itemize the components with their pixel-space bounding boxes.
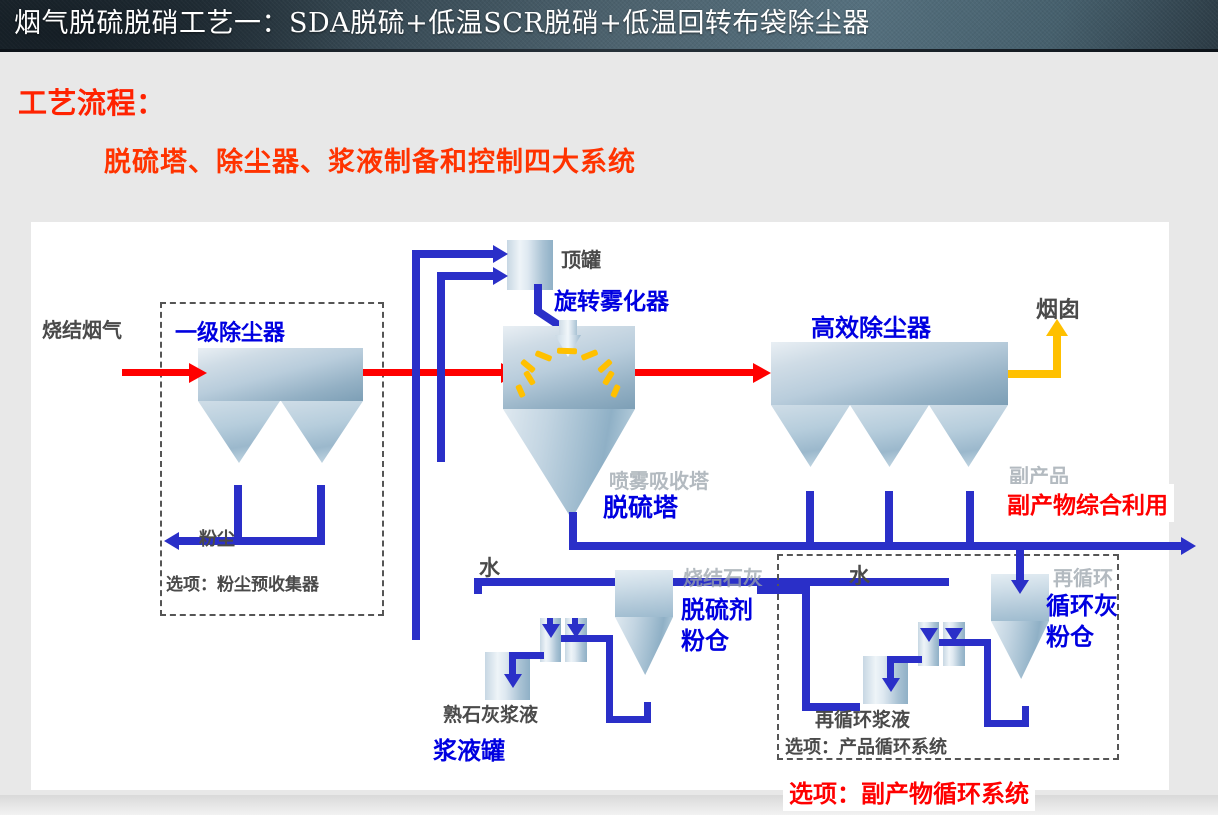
arrow-recycle-mixer-1-down [920, 628, 938, 642]
page-footer-strip [0, 795, 1218, 815]
he-hopper-2 [850, 405, 929, 467]
label-recycle-ash-silo-line2: 粉仓 [1046, 617, 1094, 652]
label-slurry-tank: 浆液罐 [433, 731, 505, 766]
label-option-byproduct-recycle-system: 选项：副产物循环系统 [783, 772, 1035, 811]
label-top-tank: 顶罐 [561, 244, 601, 273]
arrow-dust-left [164, 532, 179, 550]
pipe-he-hopper3-down [966, 491, 974, 546]
label-desulfurizer-silo-line2: 粉仓 [681, 621, 729, 656]
pipe-feed-a-horizontal [412, 250, 494, 258]
heading-process-flow: 工艺流程： [18, 80, 166, 122]
he-hopper-3 [929, 405, 1008, 467]
desulfurizer-silo-body [615, 570, 673, 618]
slide-title-bar: 烟气脱硫脱硝工艺一：SDA脱硫+低温SCR脱硝+低温回转布袋除尘器 [0, 0, 1218, 49]
arrow-recycle-slurry-down [882, 678, 900, 692]
he-dust-collector-body [771, 342, 1008, 406]
arrow-tower-bottom-right [1181, 537, 1196, 555]
label-sinter-flue-gas: 烧结烟气 [42, 314, 122, 343]
atomizer-nozzle [559, 320, 577, 336]
heading-four-systems: 脱硫塔、除尘器、浆液制备和控制四大系统 [104, 140, 636, 179]
label-water-right: 水 [849, 560, 870, 590]
pipe-mixer-1-stem [547, 618, 553, 632]
slide-title: 烟气脱硫脱硝工艺一：SDA脱硫+低温SCR脱硝+低温回转布袋除尘器 [14, 5, 870, 43]
pipe-recycle-left-top [757, 586, 810, 594]
red-gas-pipe-mid [363, 369, 503, 376]
label-dust: 粉尘 [199, 525, 235, 551]
pipe-feed-b-vertical [437, 272, 445, 462]
he-hopper-1 [771, 405, 850, 467]
arrow-slurry-down [504, 674, 522, 688]
pipe-feed-b-horizontal [437, 272, 494, 280]
label-option-dust-precollector: 选项：粉尘预收集器 [166, 570, 319, 595]
pipe-recycle-return-vertical [984, 639, 991, 727]
desulfurizer-silo-cone [615, 617, 673, 675]
pipe-recycle-mixer-to-tank-v [887, 656, 894, 680]
label-option-product-recycle-system: 选项：产品循环系统 [785, 733, 947, 759]
pipe-slurry-return-stub [644, 702, 651, 723]
pipe-chimney-vertical [1053, 334, 1061, 378]
process-flow-diagram: 烧结烟气 一级除尘器 粉尘 选项：粉尘预收集器 顶罐 旋转雾化器 [31, 222, 1169, 790]
label-recycled-slurry: 再循环浆液 [815, 705, 910, 732]
red-gas-pipe-tower-to-collector [635, 369, 755, 376]
pipe-hopper1-down [234, 485, 242, 545]
pipe-water-left-riser [474, 578, 482, 594]
arrow-chimney-up [1046, 319, 1068, 336]
arrow-gas-to-collector [753, 363, 771, 383]
pipe-he-hopper1-down [806, 491, 814, 546]
arrow-feed-b [493, 267, 508, 285]
arrow-feed-a [493, 245, 508, 263]
spray-dash-4 [557, 348, 577, 355]
label-recycle-ash-silo-line1: 循环灰 [1046, 586, 1118, 621]
label-desulfurization-tower: 脱硫塔 [603, 488, 678, 524]
pipe-tower-bottom-horizontal [569, 542, 1189, 550]
label-desulfurizer-silo-line1: 脱硫剂 [681, 590, 753, 625]
pipe-recycle-return-stub [1022, 706, 1029, 727]
pipe-mixer-to-slurry-vertical [509, 652, 516, 676]
pipe-ash-feed-vertical [1016, 542, 1024, 584]
top-tank-body [507, 240, 553, 290]
pipe-slurry-return-vertical [606, 635, 613, 723]
pipe-he-hopper2-down [885, 491, 893, 546]
pipe-mixer-2-stem [572, 618, 578, 632]
red-gas-pipe-inlet [122, 369, 190, 376]
label-rotary-atomizer: 旋转雾化器 [554, 282, 669, 316]
pipe-feed-a-vertical [412, 250, 420, 640]
label-primary-dust-collector: 一级除尘器 [175, 315, 285, 347]
title-underline [0, 49, 1218, 52]
pipe-hopper2-down [317, 485, 325, 545]
arrow-ash-feed-down [1011, 580, 1029, 594]
label-sintered-lime: 烧结石灰 [683, 562, 763, 591]
label-byproduct-comprehensive-use: 副产物综合利用 [1001, 484, 1174, 522]
label-high-efficiency-dust-collector: 高效除尘器 [811, 308, 931, 343]
pipe-recycle-left-vertical [802, 586, 810, 711]
label-slaked-lime-slurry: 熟石灰浆液 [443, 700, 538, 727]
arrow-gas-inlet [189, 363, 207, 383]
primary-dust-collector-body [198, 348, 363, 402]
